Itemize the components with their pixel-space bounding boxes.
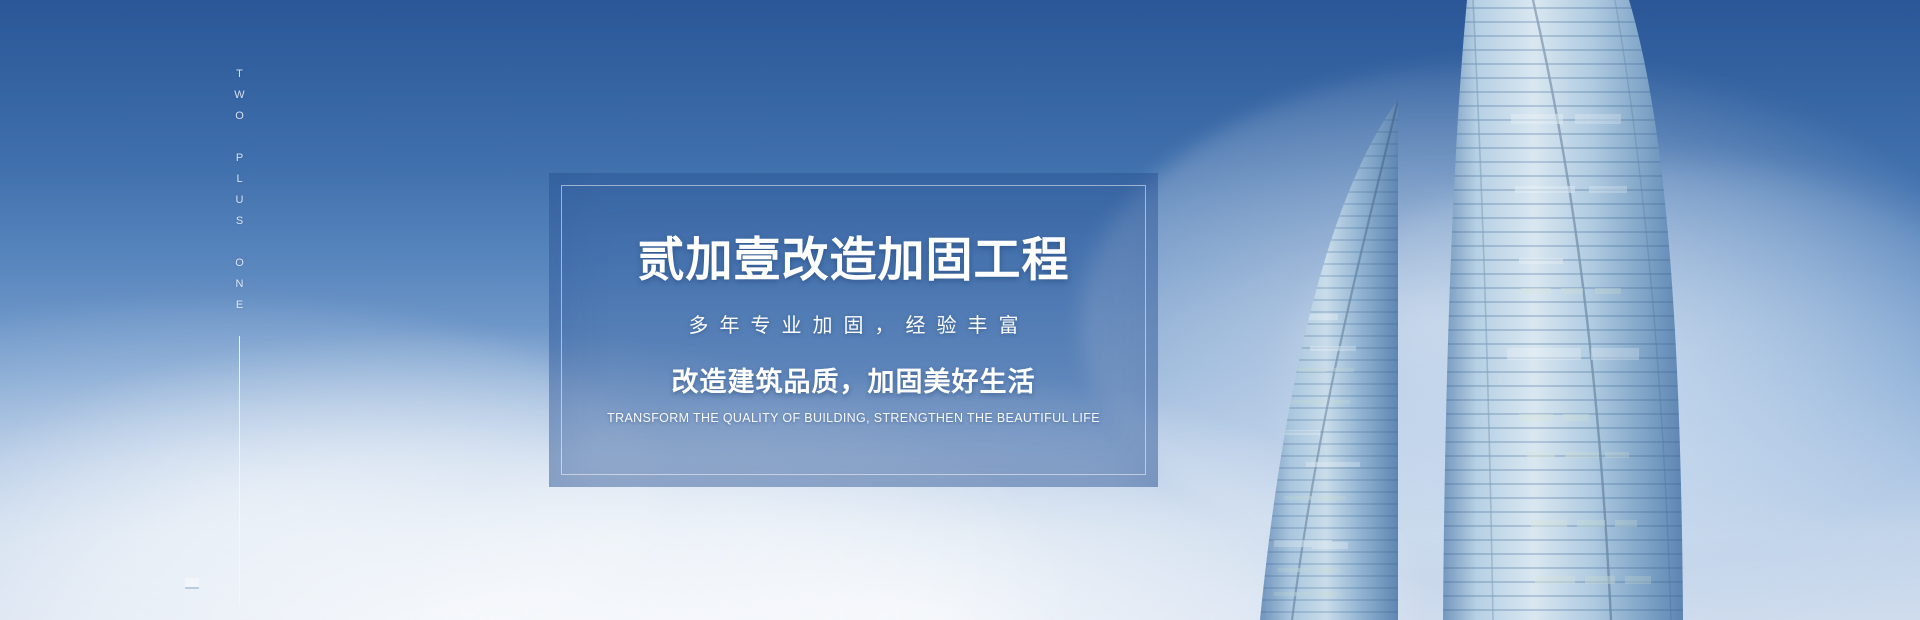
right-tower-icon [1415, 0, 1735, 620]
hero-text-panel: 贰加壹改造加固工程 多年专业加固，经验丰富 改造建筑品质，加固美好生活 TRAN… [549, 173, 1158, 487]
skyscraper-photo [1220, 0, 1920, 620]
banner-title: 贰加壹改造加固工程 [638, 234, 1070, 286]
decorative-mark-icon [185, 578, 199, 589]
vertical-divider-line [239, 336, 240, 606]
banner-subtitle: 多年专业加固，经验丰富 [678, 314, 1030, 338]
vertical-brand: TWO PLUS ONE [229, 68, 249, 606]
hero-banner: TWO PLUS ONE 贰加壹改造加固工程 多年专业加固，经验丰富 改造建筑品… [0, 0, 1920, 620]
banner-slogan: 改造建筑品质，加固美好生活 [672, 366, 1036, 398]
banner-english-tagline: TRANSFORM THE QUALITY OF BUILDING, STREN… [607, 411, 1100, 426]
panel-content: 贰加壹改造加固工程 多年专业加固，经验丰富 改造建筑品质，加固美好生活 TRAN… [549, 173, 1158, 487]
vertical-brand-label: TWO PLUS ONE [234, 68, 245, 320]
